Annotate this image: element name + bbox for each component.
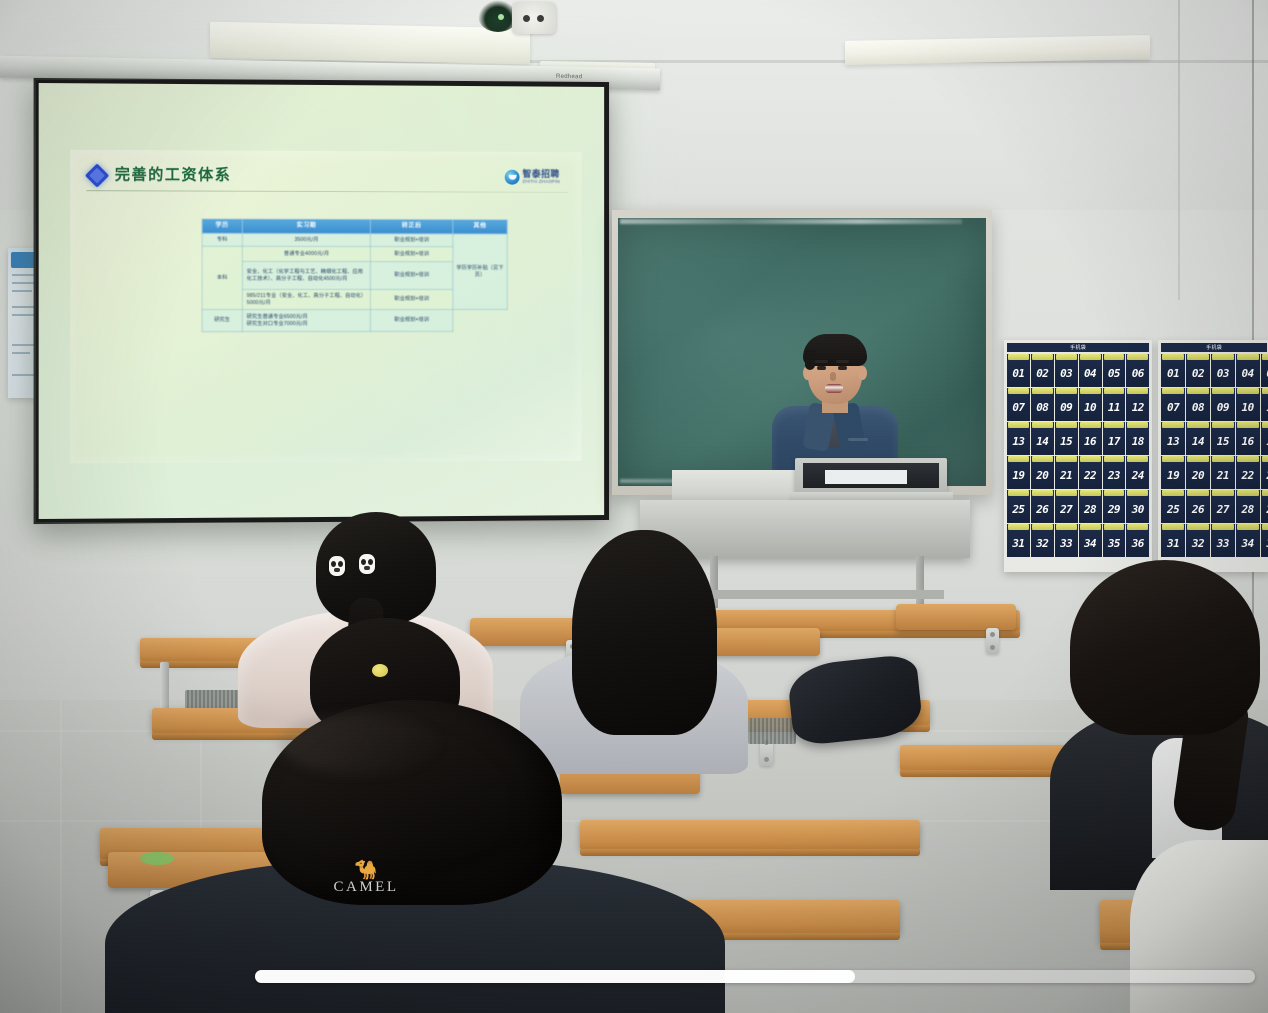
pocket-number: 21 [1217, 469, 1229, 482]
cell-after: 职业规划+培训 [371, 234, 453, 247]
phone-pocket: 07 [1161, 388, 1185, 421]
panda-hair-clip-icon [359, 554, 375, 574]
phone-pocket: 11 [1103, 388, 1126, 421]
phone-pocket: 14 [1031, 422, 1054, 455]
student-hair [572, 530, 717, 735]
cell-education: 专科 [202, 233, 242, 246]
student-far-right [1130, 840, 1268, 1013]
pocket-number: 19 [1012, 469, 1024, 482]
phone-pocket: 04 [1079, 354, 1102, 387]
phone-pocket: 18 [1126, 422, 1149, 455]
phone-pocket: 08 [1186, 388, 1210, 421]
phone-pocket: 26 [1031, 490, 1054, 523]
phone-pocket: 04 [1236, 354, 1260, 387]
table-header-row: 学历 实习期 转正后 其他 [202, 219, 507, 234]
student-camel-jacket [250, 700, 580, 1013]
phone-pocket: 22 [1236, 456, 1260, 489]
phone-pocket: 13 [1161, 422, 1185, 455]
phone-pocket: 20 [1186, 456, 1210, 489]
pocket-number: 24 [1132, 469, 1144, 482]
pocket-number: 20 [1192, 469, 1204, 482]
presenter-hair [803, 334, 867, 366]
pocket-number: 32 [1036, 537, 1048, 550]
phone-pocket: 05 [1103, 354, 1126, 387]
logo-subtext: ZHITAI ZHAOPIN [523, 179, 560, 184]
chair-back [896, 604, 1016, 630]
title-underline [86, 190, 567, 193]
pocket-number: 36 [1132, 537, 1144, 550]
phone-pocket: 15 [1211, 422, 1235, 455]
pocket-number: 34 [1084, 537, 1096, 550]
phone-pocket: 13 [1007, 422, 1030, 455]
pocket-number: 28 [1084, 503, 1096, 516]
phone-pocket: 09 [1211, 388, 1235, 421]
phone-pocket: 15 [1055, 422, 1078, 455]
phone-pocket: 08 [1031, 388, 1054, 421]
slide-header: 完善的工资体系 智泰招聘 ZHITAI ZHAOPIN [88, 162, 565, 190]
presenter-jacket-pocket [848, 438, 868, 441]
pocket-grid-left: 0102030405060708091011121314151617181920… [1007, 354, 1149, 557]
phone-pocket: 29 [1103, 490, 1126, 523]
phone-pocket: 19 [1161, 456, 1185, 489]
cell-internship: 3500元/月 [242, 233, 371, 246]
phone-pocket: 35 [1103, 524, 1126, 557]
desk-sticker-green [140, 852, 174, 865]
pocket-number: 33 [1060, 537, 1072, 550]
pocket-grid-right: 0102030405060708091011121314151617181920… [1161, 354, 1268, 557]
student-hair [262, 700, 562, 905]
phone-pocket: 22 [1079, 456, 1102, 489]
pocket-number: 13 [1012, 435, 1024, 448]
pocket-number: 02 [1192, 367, 1204, 380]
pocket-number: 27 [1217, 503, 1229, 516]
pocket-header-text: 手机袋 [1070, 344, 1086, 351]
phone-pocket: 07 [1007, 388, 1030, 421]
pocket-number: 35 [1108, 537, 1120, 550]
cell-after: 职业规划+培训 [371, 290, 453, 310]
cell-internship: 研究生普通专业6500元/月 研究生对口专业7000元/月 [242, 309, 371, 331]
pocket-number: 25 [1012, 503, 1024, 516]
pocket-number: 22 [1084, 469, 1096, 482]
chair-bracket [986, 628, 999, 654]
cell-internship: 安全、化工（化学工程与工艺、精细化工程、应用化工技术）、高分子工程、自动化450… [242, 261, 371, 289]
pocket-number: 10 [1084, 401, 1096, 414]
pocket-number: 07 [1012, 401, 1024, 414]
camel-brand-logo: 🐪 CAMEL [320, 862, 412, 908]
pocket-number: 01 [1012, 367, 1024, 380]
phone-pocket: 33 [1211, 524, 1235, 557]
phone-pocket: 34 [1079, 524, 1102, 557]
logo-text: 智泰招聘 [523, 170, 560, 179]
phone-pocket: 29 [1261, 490, 1268, 523]
yellow-scrunchie [372, 664, 388, 677]
col-header-internship: 实习期 [242, 219, 371, 233]
pocket-number: 16 [1242, 435, 1254, 448]
camel-glyph-icon: 🐪 [320, 862, 412, 880]
phone-pocket: 12 [1126, 388, 1149, 421]
cell-education: 本科 [202, 246, 242, 309]
pocket-number: 31 [1012, 537, 1024, 550]
pocket-number: 25 [1167, 503, 1179, 516]
pocket-header-text: 手机袋 [1206, 344, 1222, 351]
pocket-number: 08 [1192, 401, 1204, 414]
pocket-number: 27 [1060, 503, 1072, 516]
pocket-number: 30 [1132, 503, 1144, 516]
presenter-brow-left [815, 360, 828, 363]
salary-table: 学历 实习期 转正后 其他 专科 3500元/月 职业规划+培训 学历学历补贴（… [202, 219, 508, 332]
cell-other: 学历学历补贴（见下页） [453, 234, 507, 310]
table-row: 专科 3500元/月 职业规划+培训 学历学历补贴（见下页） [202, 233, 507, 247]
pocket-number: 10 [1242, 401, 1254, 414]
phone-pocket: 30 [1126, 490, 1149, 523]
student-hair [1070, 560, 1260, 735]
logo-mark-icon [505, 169, 520, 184]
phone-pocket: 17 [1261, 422, 1268, 455]
pocket-number: 07 [1167, 401, 1179, 414]
student-right-ponytail [1060, 560, 1268, 860]
pocket-number: 09 [1060, 401, 1072, 414]
cell-after: 职业规划+培训 [371, 309, 453, 331]
wall-seam-right [1178, 0, 1180, 300]
diamond-bullet-icon [85, 163, 109, 187]
phone-pocket: 17 [1103, 422, 1126, 455]
phone-pocket: 23 [1261, 456, 1268, 489]
pocket-number: 23 [1108, 469, 1120, 482]
phone-pocket: 32 [1186, 524, 1210, 557]
desk-basket [748, 718, 796, 744]
phone-pocket: 02 [1031, 354, 1054, 387]
video-progress-fill [255, 970, 855, 983]
phone-pocket: 35 [1261, 524, 1268, 557]
phone-pocket: 25 [1007, 490, 1030, 523]
presenter-eye-right [838, 366, 847, 370]
chalk-dust-top [620, 219, 962, 224]
phone-pocket: 09 [1055, 388, 1078, 421]
cell-internship: 985/211专业（安全、化工、高分子工程、自动化）5000元/月 [242, 289, 371, 309]
phone-pocket: 01 [1161, 354, 1185, 387]
presenter-brow-right [836, 360, 849, 363]
presenter-nose [830, 372, 836, 381]
pocket-number: 09 [1217, 401, 1229, 414]
panda-hair-clip-icon [329, 556, 345, 576]
pocket-number: 11 [1108, 401, 1120, 414]
pocket-number: 26 [1036, 503, 1048, 516]
cable-highlight [498, 14, 504, 20]
phone-pocket: 31 [1007, 524, 1030, 557]
col-header-education: 学历 [202, 219, 242, 233]
phone-pocket: 02 [1186, 354, 1210, 387]
pocket-number: 28 [1242, 503, 1254, 516]
pocket-header-left: 手机袋 [1007, 343, 1149, 352]
ceiling-light-left [210, 22, 530, 65]
phone-pocket: 23 [1103, 456, 1126, 489]
slide-title: 完善的工资体系 [115, 163, 232, 185]
phone-pocket: 20 [1031, 456, 1054, 489]
phone-pocket: 10 [1236, 388, 1260, 421]
presenter-mouth [825, 384, 843, 393]
presenter-ear-right [858, 366, 867, 380]
phone-pocket-chart: 手机袋 010203040506070809101112131415161718… [1004, 340, 1268, 572]
pocket-number: 14 [1036, 435, 1048, 448]
phone-pocket: 03 [1211, 354, 1235, 387]
cell-after: 职业规划+培训 [371, 247, 453, 262]
pocket-number: 04 [1084, 367, 1096, 380]
phone-pocket: 34 [1236, 524, 1260, 557]
cell-education: 研究生 [202, 310, 242, 332]
pocket-number: 03 [1217, 367, 1229, 380]
pocket-number: 06 [1132, 367, 1144, 380]
pocket-number: 18 [1132, 435, 1144, 448]
pocket-number: 29 [1108, 503, 1120, 516]
pocket-number: 15 [1217, 435, 1229, 448]
pocket-number: 02 [1036, 367, 1048, 380]
presentation-slide: 完善的工资体系 智泰招聘 ZHITAI ZHAOPIN 学历 [70, 150, 581, 464]
pocket-number: 12 [1132, 401, 1144, 414]
pocket-number: 26 [1192, 503, 1204, 516]
pocket-number: 13 [1167, 435, 1179, 448]
pocket-number: 19 [1167, 469, 1179, 482]
video-progress-bar[interactable] [255, 970, 1255, 983]
phone-pocket: 21 [1211, 456, 1235, 489]
phone-pocket: 16 [1079, 422, 1102, 455]
cell-internship: 普通专业4000元/月 [242, 246, 371, 261]
student-torso [1130, 840, 1268, 1013]
pocket-number: 22 [1242, 469, 1254, 482]
phone-pocket: 14 [1186, 422, 1210, 455]
phone-pocket: 19 [1007, 456, 1030, 489]
col-header-after: 转正后 [371, 220, 453, 234]
pocket-number: 08 [1036, 401, 1048, 414]
pocket-panel-left: 手机袋 010203040506070809101112131415161718… [1004, 340, 1152, 572]
pocket-number: 16 [1084, 435, 1096, 448]
col-header-other: 其他 [453, 220, 507, 234]
pocket-number: 17 [1108, 435, 1120, 448]
phone-pocket: 05 [1261, 354, 1268, 387]
phone-pocket: 28 [1079, 490, 1102, 523]
pocket-number: 05 [1108, 367, 1120, 380]
phone-pocket: 10 [1079, 388, 1102, 421]
phone-pocket: 01 [1007, 354, 1030, 387]
pocket-number: 01 [1167, 367, 1179, 380]
video-frame: Redhead 完善的工资体系 智泰招聘 ZHITAI ZHAOPIN [0, 0, 1268, 1013]
phone-pocket: 31 [1161, 524, 1185, 557]
phone-pocket: 25 [1161, 490, 1185, 523]
phone-pocket: 27 [1055, 490, 1078, 523]
company-logo: 智泰招聘 ZHITAI ZHAOPIN [505, 166, 560, 188]
pocket-panel-right: 手机袋 010203040506070809101112131415161718… [1158, 340, 1268, 572]
pocket-number: 31 [1167, 537, 1179, 550]
phone-pocket: 16 [1236, 422, 1260, 455]
phone-pocket: 06 [1126, 354, 1149, 387]
roller-brand-label: Redhead [556, 74, 582, 80]
camel-wordmark: CAMEL [320, 879, 412, 896]
pocket-number: 33 [1217, 537, 1229, 550]
phone-pocket: 28 [1236, 490, 1260, 523]
projection-screen: 完善的工资体系 智泰招聘 ZHITAI ZHAOPIN 学历 [34, 78, 609, 524]
pocket-number: 15 [1060, 435, 1072, 448]
phone-pocket: 21 [1055, 456, 1078, 489]
desk [580, 820, 920, 850]
phone-pocket: 03 [1055, 354, 1078, 387]
pocket-number: 04 [1242, 367, 1254, 380]
pocket-number: 14 [1192, 435, 1204, 448]
presenter-eye-left [817, 366, 826, 370]
pocket-number: 03 [1060, 367, 1072, 380]
phone-pocket: 32 [1031, 524, 1054, 557]
cell-after: 职业规划+培训 [371, 262, 453, 290]
pocket-number: 34 [1242, 537, 1254, 550]
phone-pocket: 27 [1211, 490, 1235, 523]
pocket-number: 20 [1036, 469, 1048, 482]
phone-pocket: 26 [1186, 490, 1210, 523]
phone-pocket: 33 [1055, 524, 1078, 557]
pocket-number: 21 [1060, 469, 1072, 482]
laptop-lid [795, 458, 947, 493]
phone-pocket: 36 [1126, 524, 1149, 557]
phone-pocket: 24 [1126, 456, 1149, 489]
projected-image: 完善的工资体系 智泰招聘 ZHITAI ZHAOPIN 学历 [39, 83, 604, 519]
laptop-paper-sheet [825, 470, 907, 484]
power-socket-icon [512, 2, 556, 34]
pocket-number: 32 [1192, 537, 1204, 550]
phone-pocket: 11 [1261, 388, 1268, 421]
table-row: 研究生 研究生普通专业6500元/月 研究生对口专业7000元/月 职业规划+培… [202, 309, 507, 331]
pocket-header-right: 手机袋 [1161, 343, 1267, 352]
